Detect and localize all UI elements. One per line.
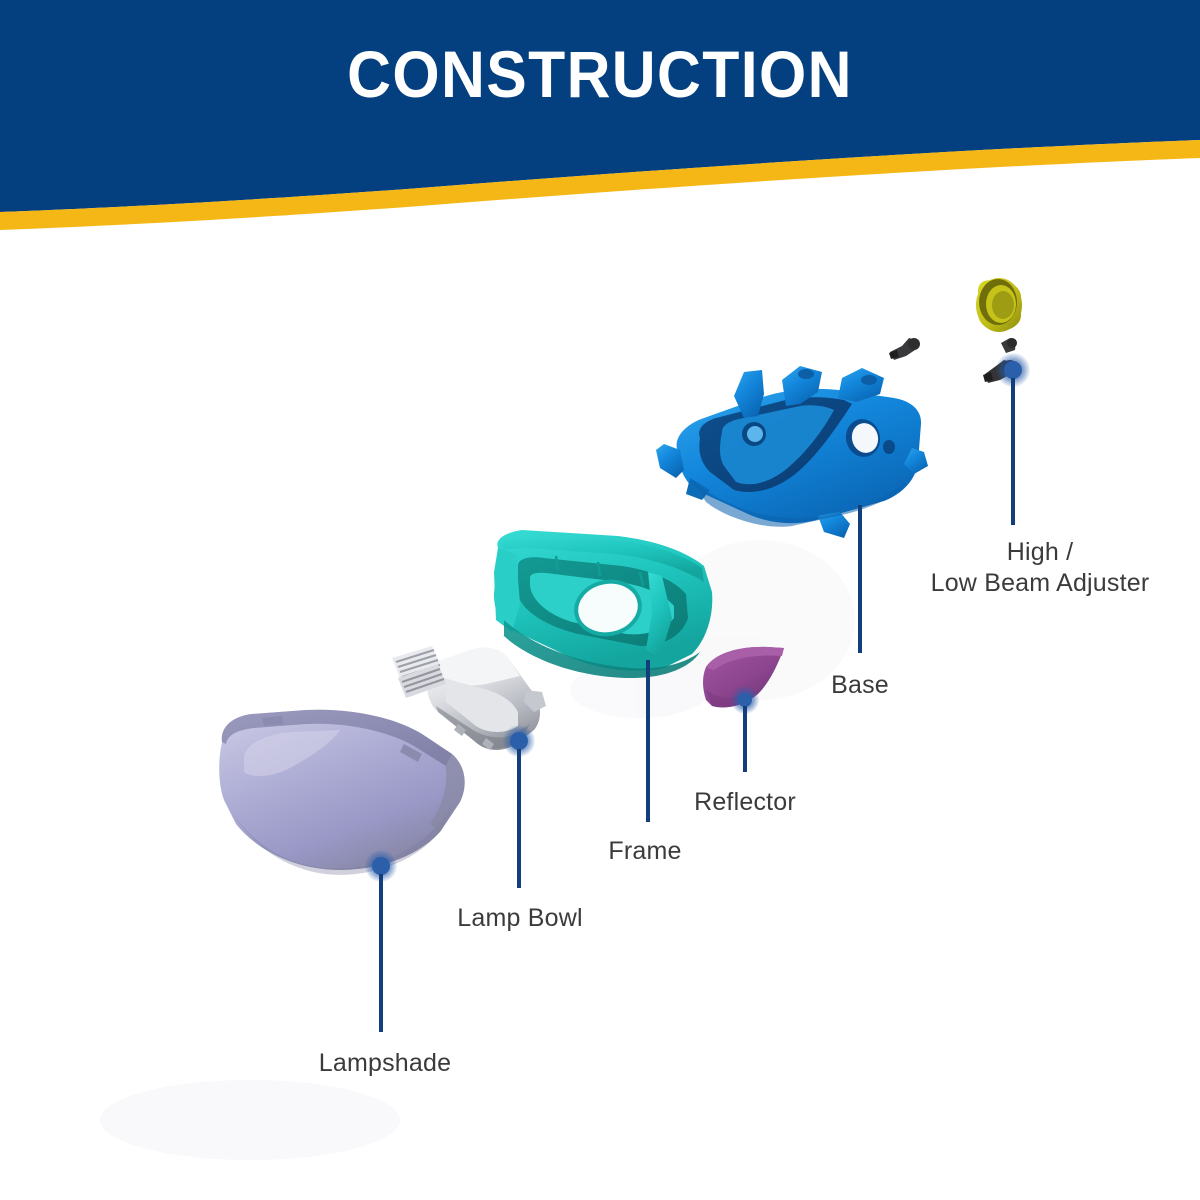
construction-infographic: CONSTRUCTION [0,0,1200,1200]
leader-dot-lampshade-core [372,857,390,875]
part-reflector[interactable] [703,647,784,772]
base-screw-hole [883,440,895,454]
exploded-diagram: High / Low Beam Adjuster Base Reflector … [0,0,1200,1200]
adjuster-cap-icon [976,278,1022,332]
label-reflector: Reflector [645,787,845,818]
adjuster-screw-right-icon [1001,338,1017,353]
adjuster-screw-left-icon [889,338,920,360]
adjuster-knob-core-icon [1004,361,1022,379]
leader-dot-lamp-bowl-core [510,732,528,750]
label-high-low-beam-adjuster: High / Low Beam Adjuster [880,537,1200,599]
label-lampshade: Lampshade [235,1048,535,1079]
label-frame: Frame [530,836,760,867]
part-high-low-beam-adjuster[interactable] [889,278,1030,525]
lampshade-body [219,710,464,870]
label-base: Base [790,670,930,701]
label-lamp-bowl: Lamp Bowl [400,903,640,934]
base-socket-hole-inner [747,426,763,442]
diagram-artwork [0,0,1200,1200]
part-lampshade[interactable] [219,710,464,1032]
leader-dot-reflector-core [738,693,752,707]
